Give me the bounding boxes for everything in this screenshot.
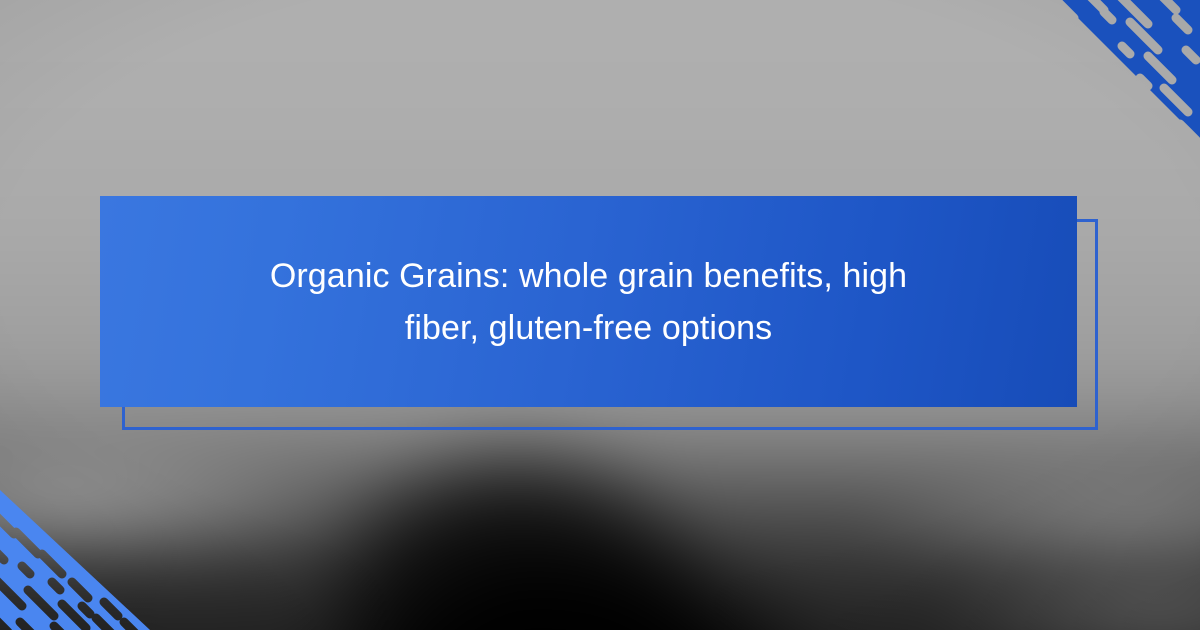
banner-title: Organic Grains: whole grain benefits, hi… — [229, 250, 949, 354]
banner-card: Organic Grains: whole grain benefits, hi… — [100, 196, 1077, 407]
banner-canvas: Organic Grains: whole grain benefits, hi… — [0, 0, 1200, 630]
